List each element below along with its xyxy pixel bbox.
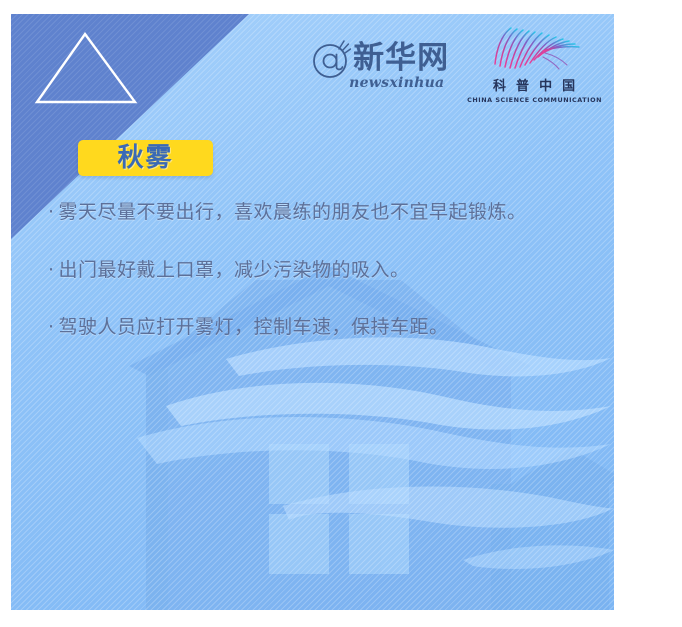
bullet-dot-icon: · — [48, 200, 55, 226]
list-item: · 雾天尽量不要出行，喜欢晨练的朋友也不宜早起锻炼。 — [48, 200, 588, 226]
list-item-text: 雾天尽量不要出行，喜欢晨练的朋友也不宜早起锻炼。 — [59, 200, 588, 226]
list-item-text: 出门最好戴上口罩，减少污染物的吸入。 — [59, 258, 588, 284]
xinhua-logo-en: newsxinhua — [349, 75, 444, 91]
list-item: · 出门最好戴上口罩，减少污染物的吸入。 — [48, 258, 588, 284]
bullet-dot-icon: · — [48, 258, 55, 284]
poster-canvas: 新华网 newsxinhua — [11, 14, 614, 610]
kepu-china-en: CHINA SCIENCE COMMUNICATION — [467, 96, 602, 104]
kepu-china-logo: 科 普 中 国 CHINA SCIENCE COMMUNICATION — [467, 24, 602, 104]
kepu-china-cn: 科 普 中 国 — [493, 75, 576, 94]
kepu-char-3: 中 — [539, 75, 553, 94]
title-badge: 秋雾 — [78, 140, 213, 176]
kepu-char-2: 普 — [516, 75, 530, 94]
xinhua-logo-row: 新华网 — [311, 37, 449, 79]
kepu-char-4: 国 — [562, 75, 576, 94]
list-item: · 驾驶人员应打开雾灯，控制车速，保持车距。 — [48, 315, 588, 341]
fan-wing-icon — [487, 24, 583, 74]
logo-group: 新华网 newsxinhua — [311, 24, 602, 104]
xinhua-logo-cn: 新华网 — [353, 43, 449, 74]
at-sign-icon — [311, 37, 351, 79]
advice-list: · 雾天尽量不要出行，喜欢晨练的朋友也不宜早起锻炼。 · 出门最好戴上口罩，减少… — [48, 200, 588, 373]
kepu-char-1: 科 — [493, 75, 507, 94]
bullet-dot-icon: · — [48, 315, 55, 341]
triangle-outline-icon — [31, 28, 141, 108]
list-item-text: 驾驶人员应打开雾灯，控制车速，保持车距。 — [59, 315, 588, 341]
xinhua-logo: 新华网 newsxinhua — [311, 37, 449, 91]
title-badge-label: 秋雾 — [117, 145, 173, 171]
